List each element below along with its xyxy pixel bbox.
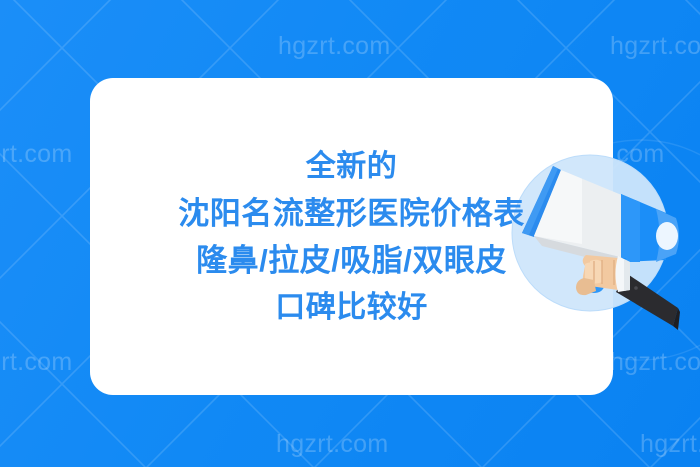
watermark-text: hgzrt.com (276, 430, 388, 459)
content-card (90, 78, 613, 395)
watermark-text: hgzrt.com (610, 32, 700, 61)
watermark-text: hgzrt.com (640, 430, 700, 459)
promo-banner: hgzrt.com hgzrt.com hgzrt.com hgzrt.com … (0, 0, 700, 467)
watermark-text: hgzrt.com (278, 32, 390, 61)
watermark-text: hgzrt.com (0, 140, 72, 169)
watermark-text: hgzrt.com (610, 348, 700, 377)
watermark-text: hgzrt.com (0, 348, 72, 377)
